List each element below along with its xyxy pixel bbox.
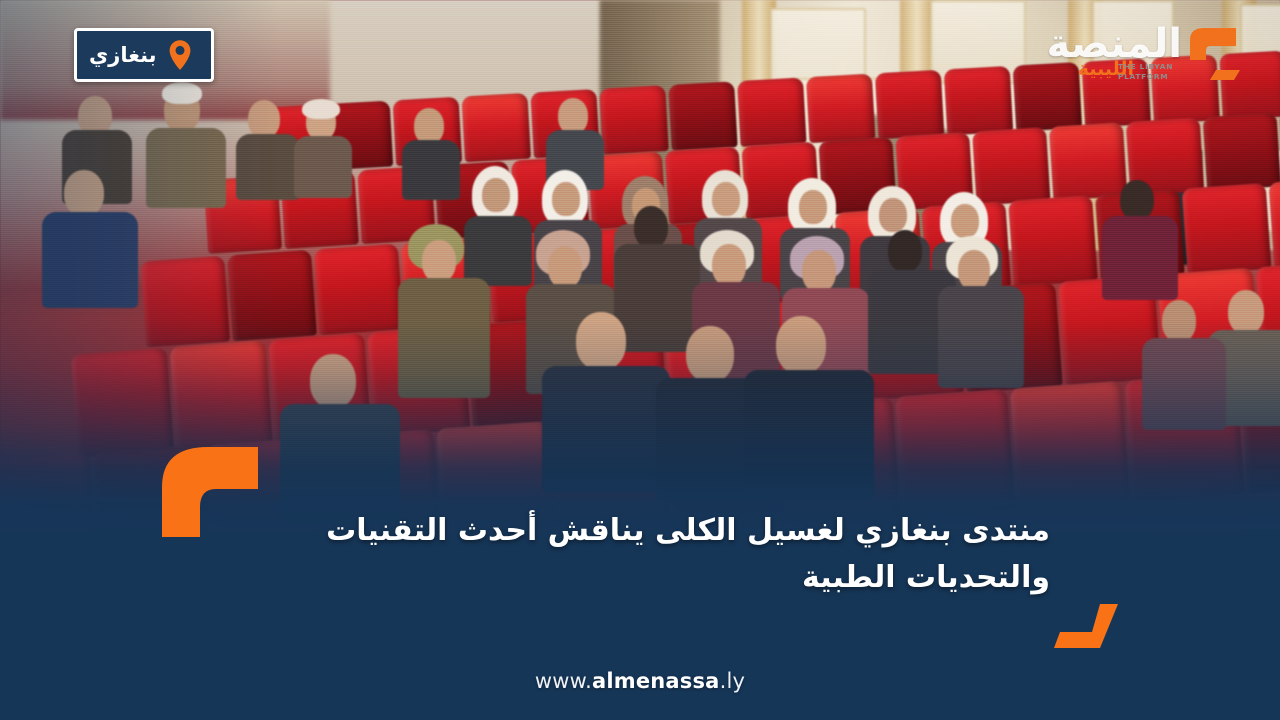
- footer-url-tld: .ly: [720, 669, 746, 693]
- footer-url-prefix: www.: [535, 669, 592, 693]
- news-card: بنغازي المنصة الليبية THE LIBYAN PLATFOR…: [0, 0, 1280, 720]
- logo-english-text: THE LIBYAN PLATFORM: [1118, 62, 1188, 82]
- location-badge[interactable]: بنغازي: [74, 28, 214, 82]
- site-logo[interactable]: المنصة الليبية THE LIBYAN PLATFORM: [1026, 14, 1256, 94]
- logo-mark-icon: [1180, 20, 1246, 86]
- close-quote-icon: [1052, 602, 1138, 658]
- logo-english-line2: PLATFORM: [1118, 72, 1168, 81]
- location-pin-icon: [167, 39, 193, 71]
- logo-english-line1: THE LIBYAN: [1118, 62, 1173, 71]
- location-badge-label: بنغازي: [89, 45, 157, 66]
- footer-url[interactable]: www.almenassa.ly: [0, 669, 1280, 693]
- headline: منتدى بنغازي لغسيل الكلى يناقش أحدث التق…: [230, 507, 1050, 602]
- footer-url-brand: almenassa: [592, 669, 720, 693]
